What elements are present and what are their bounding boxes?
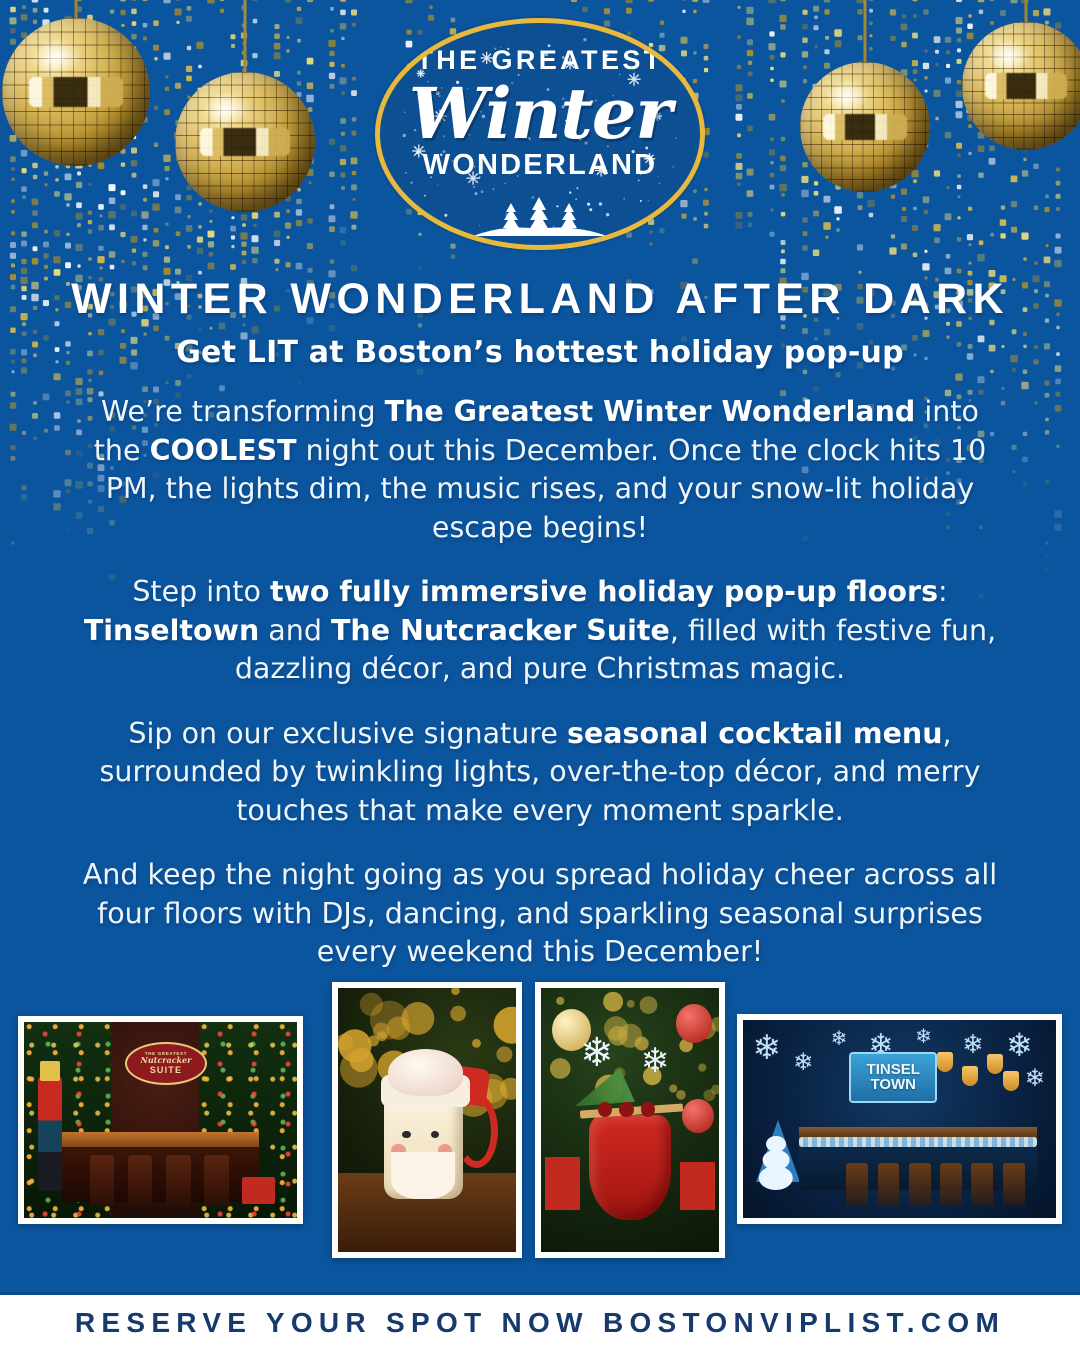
evergreen-trees-icon	[465, 184, 615, 236]
logo-bottom-text: WONDERLAND	[423, 149, 658, 182]
disco-ball-icon	[800, 62, 930, 192]
nutcracker-suite-sign: THE GREATEST Nutcracker SUITE	[125, 1042, 207, 1085]
snowflake-icon: ❄	[1006, 1026, 1033, 1064]
paragraph-nightlife: And keep the night going as you spread h…	[80, 856, 1000, 972]
body-copy: We’re transforming The Greatest Winter W…	[80, 393, 1000, 972]
photo-santa-mug-drink	[332, 982, 522, 1258]
snowflake-icon: ❄	[641, 1041, 670, 1081]
sign-line-2: Nutcracker	[127, 1056, 205, 1065]
snowflake-icon: ❄	[580, 1030, 614, 1076]
logo-script-text: Winter	[409, 72, 672, 155]
disco-ball-icon	[962, 22, 1080, 150]
snowman-icon	[759, 1127, 793, 1190]
sign-line-3: SUITE	[127, 1065, 205, 1075]
tinsel-town-sign: TINSEL TOWN	[849, 1052, 937, 1103]
snowflake-icon: ❄	[793, 1048, 813, 1076]
sign-line-2: TOWN	[870, 1077, 916, 1092]
disco-ball-icon	[2, 18, 150, 166]
snowflake-icon: ❄	[962, 1030, 984, 1060]
snowflake-icon: ❄	[1025, 1064, 1045, 1092]
event-logo: THE GREATEST Winter WONDERLAND	[375, 18, 705, 250]
photo-nutcracker-suite-bar: THE GREATEST Nutcracker SUITE	[18, 1016, 303, 1224]
snowflake-icon: ❄	[752, 1028, 781, 1068]
page-subtitle: Get LIT at Boston’s hottest holiday pop-…	[0, 335, 1080, 370]
paragraph-cocktails: Sip on our exclusive signature seasonal …	[80, 715, 1000, 831]
footer-cta-bar[interactable]: RESERVE YOUR SPOT NOW BOSTONVIPLIST.COM	[0, 1292, 1080, 1350]
sign-line-1: TINSEL	[867, 1062, 920, 1077]
photo-tinsel-town-bar: ❄ ❄ ❄ ❄ ❄ ❄ ❄ ❄	[737, 1014, 1062, 1224]
poster-canvas: THE GREATEST Winter WONDERLAND WINTER WO…	[0, 0, 1080, 1350]
photo-cranberry-cocktail: ❄ ❄	[535, 982, 725, 1258]
photo-gallery: THE GREATEST Nutcracker SUITE	[0, 982, 1080, 1272]
snowflake-icon: ❄	[831, 1026, 848, 1050]
disco-ball-icon	[175, 72, 315, 212]
page-title: WINTER WONDERLAND AFTER DARK	[0, 275, 1080, 324]
paragraph-intro: We’re transforming The Greatest Winter W…	[80, 393, 1000, 547]
footer-cta-text[interactable]: RESERVE YOUR SPOT NOW BOSTONVIPLIST.COM	[75, 1307, 1005, 1339]
snowflake-icon: ❄	[915, 1024, 932, 1048]
paragraph-floors: Step into two fully immersive holiday po…	[80, 573, 1000, 689]
